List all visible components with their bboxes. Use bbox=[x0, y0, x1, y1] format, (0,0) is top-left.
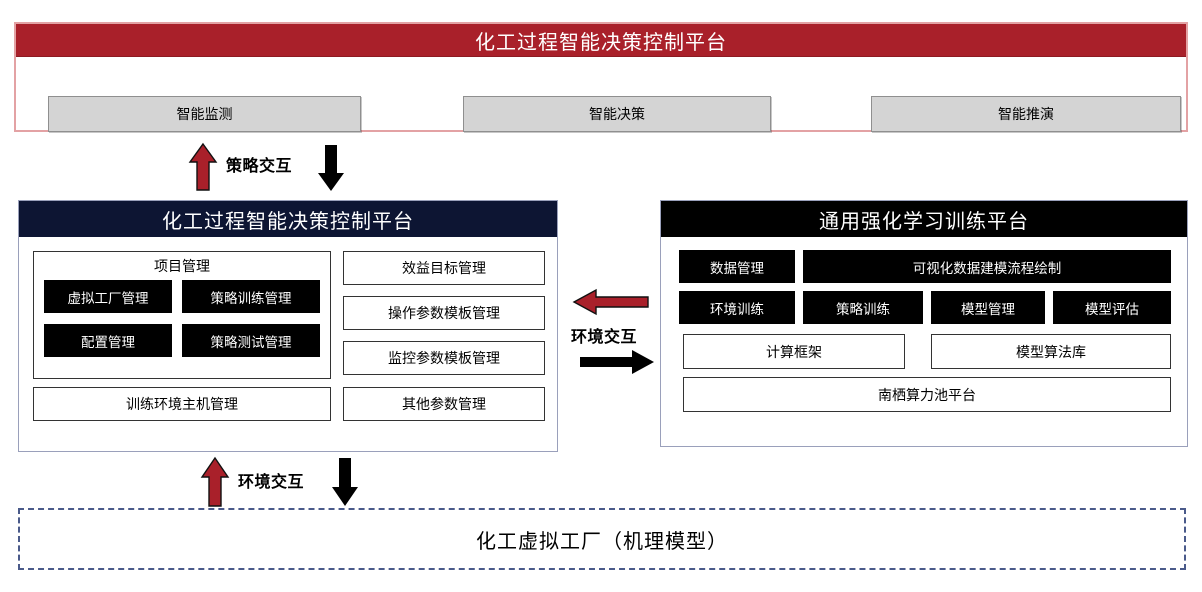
right-platform-panel: 通用强化学习训练平台 数据管理 可视化数据建模流程绘制 环境训练 策略训练 模型… bbox=[660, 200, 1188, 447]
item-policy-training-management[interactable]: 策略训练管理 bbox=[182, 280, 320, 313]
environment-up-arrow-icon bbox=[200, 456, 230, 508]
item-model-evaluation[interactable]: 模型评估 bbox=[1053, 291, 1171, 324]
item-policy-test-management[interactable]: 策略测试管理 bbox=[182, 324, 320, 357]
item-environment-training[interactable]: 环境训练 bbox=[679, 291, 795, 324]
environment-down-arrow-icon bbox=[330, 456, 360, 508]
item-model-algorithm-library[interactable]: 模型算法库 bbox=[931, 334, 1171, 369]
environment-interaction-label-horizontal: 环境交互 bbox=[571, 323, 637, 347]
left-platform-title: 化工过程智能决策控制平台 bbox=[19, 201, 557, 237]
item-model-management[interactable]: 模型管理 bbox=[931, 291, 1045, 324]
item-training-env-host-management[interactable]: 训练环境主机管理 bbox=[33, 387, 331, 421]
item-visual-data-modeling-flow[interactable]: 可视化数据建模流程绘制 bbox=[803, 250, 1171, 283]
environment-interaction-label-vertical: 环境交互 bbox=[238, 468, 304, 492]
item-other-param-management[interactable]: 其他参数管理 bbox=[343, 387, 545, 421]
left-platform-panel: 化工过程智能决策控制平台 项目管理 虚拟工厂管理 策略训练管理 配置管理 策略测… bbox=[18, 200, 558, 452]
item-policy-training[interactable]: 策略训练 bbox=[803, 291, 923, 324]
environment-left-arrow-icon bbox=[572, 288, 650, 316]
environment-right-arrow-icon bbox=[578, 348, 656, 376]
diagram-canvas: 化工过程智能决策控制平台 智能监测 智能决策 智能推演 策略交互 化工过程智能决… bbox=[0, 0, 1202, 592]
project-management-group: 项目管理 虚拟工厂管理 策略训练管理 配置管理 策略测试管理 bbox=[33, 251, 331, 379]
strategy-up-arrow-icon bbox=[188, 142, 218, 192]
top-platform-panel: 化工过程智能决策控制平台 智能监测 智能决策 智能推演 bbox=[14, 22, 1188, 132]
strategy-down-arrow-icon bbox=[316, 143, 346, 193]
item-benefit-target-management[interactable]: 效益目标管理 bbox=[343, 251, 545, 285]
item-configuration-management[interactable]: 配置管理 bbox=[44, 324, 172, 357]
top-button-intelligent-monitoring[interactable]: 智能监测 bbox=[48, 96, 361, 132]
top-button-intelligent-deduction[interactable]: 智能推演 bbox=[871, 96, 1181, 132]
top-button-intelligent-decision[interactable]: 智能决策 bbox=[463, 96, 771, 132]
item-computing-framework[interactable]: 计算框架 bbox=[683, 334, 905, 369]
project-management-title: 项目管理 bbox=[34, 256, 330, 276]
bottom-virtual-factory-panel: 化工虚拟工厂（机理模型） bbox=[18, 508, 1186, 570]
item-monitoring-param-template-management[interactable]: 监控参数模板管理 bbox=[343, 341, 545, 375]
item-nanqi-compute-pool-platform[interactable]: 南栖算力池平台 bbox=[683, 377, 1171, 412]
right-platform-title: 通用强化学习训练平台 bbox=[661, 201, 1187, 237]
item-virtual-factory-management[interactable]: 虚拟工厂管理 bbox=[44, 280, 172, 313]
item-data-management[interactable]: 数据管理 bbox=[679, 250, 795, 283]
item-operation-param-template-management[interactable]: 操作参数模板管理 bbox=[343, 296, 545, 330]
top-platform-title: 化工过程智能决策控制平台 bbox=[16, 24, 1186, 57]
strategy-interaction-label: 策略交互 bbox=[226, 152, 292, 176]
